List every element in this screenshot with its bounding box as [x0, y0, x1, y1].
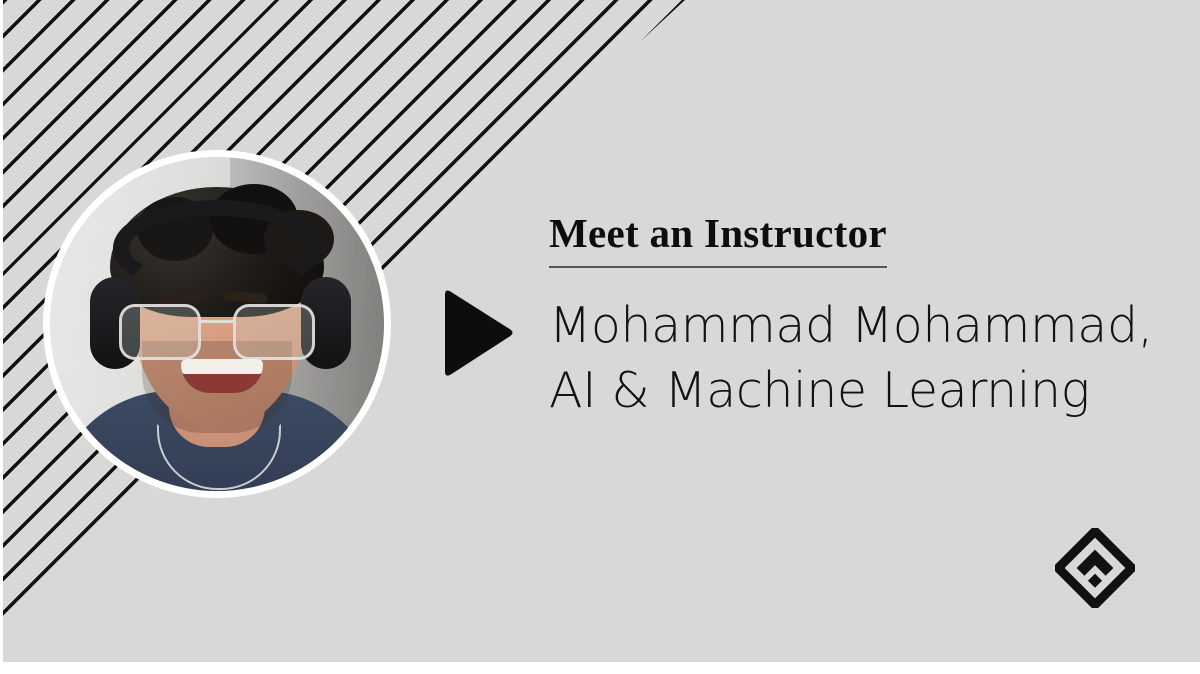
instructor-avatar: [43, 150, 391, 498]
eyeglass-bridge: [201, 320, 233, 323]
text-block: Meet an Instructor Mohammad Mohammad, AI…: [549, 210, 1169, 423]
play-button[interactable]: [438, 288, 516, 378]
eyeglass-lens-left: [119, 304, 201, 360]
brand-diamond-logo-icon: [1055, 528, 1135, 608]
eyebrow-label: Meet an Instructor: [549, 210, 887, 268]
instructor-slide: Meet an Instructor Mohammad Mohammad, AI…: [0, 0, 1200, 674]
slide-canvas: Meet an Instructor Mohammad Mohammad, AI…: [3, 0, 1200, 662]
play-triangle-icon: [445, 291, 513, 376]
page-title: Mohammad Mohammad, AI & Machine Learning: [549, 294, 1169, 423]
brand-logo[interactable]: [1055, 528, 1135, 608]
avatar-image: [50, 157, 384, 491]
portrait-teeth: [181, 359, 263, 374]
eyeglass-lens-right: [233, 304, 315, 360]
headphones-band-icon: [113, 200, 321, 296]
eyeglasses-icon: [119, 304, 315, 362]
